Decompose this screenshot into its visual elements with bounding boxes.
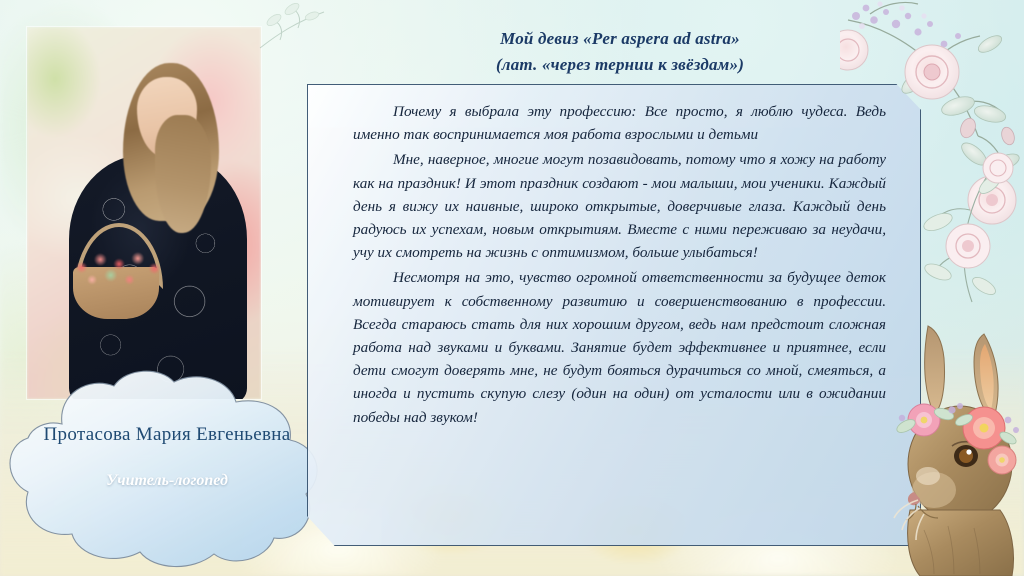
name-cloud-text: Протасова Мария Евгеньевна Учитель-логоп… [2, 420, 332, 490]
slide-root: Протасова Мария Евгеньевна Учитель-логоп… [0, 0, 1024, 576]
rabbit-illustration [890, 314, 1024, 576]
body-paragraph-2: Мне, наверное, многие могут позавидовать… [353, 148, 886, 264]
name-cloud: Протасова Мария Евгеньевна Учитель-логоп… [2, 368, 332, 574]
text-panel-content: Почему я выбрала эту профессию: Все прос… [333, 92, 900, 544]
person-role: Учитель-логопед [36, 472, 298, 490]
portrait-flowers [65, 245, 169, 301]
portrait-photo [27, 27, 261, 399]
body-paragraph-3: Несмотря на это, чувство огромной ответс… [353, 266, 886, 428]
body-paragraph-1: Почему я выбрала эту профессию: Все прос… [353, 100, 886, 146]
motto-line-2: (лат. «через тернии к звёздам») [330, 52, 910, 78]
person-name: Протасова Мария Евгеньевна [36, 420, 298, 450]
floral-top-left-icon [250, 0, 340, 70]
motto-heading: Мой девиз «Per aspera ad astra» (лат. «ч… [330, 26, 910, 78]
motto-line-1: Мой девиз «Per aspera ad astra» [330, 26, 910, 52]
floral-middle-right-icon [898, 150, 1018, 310]
